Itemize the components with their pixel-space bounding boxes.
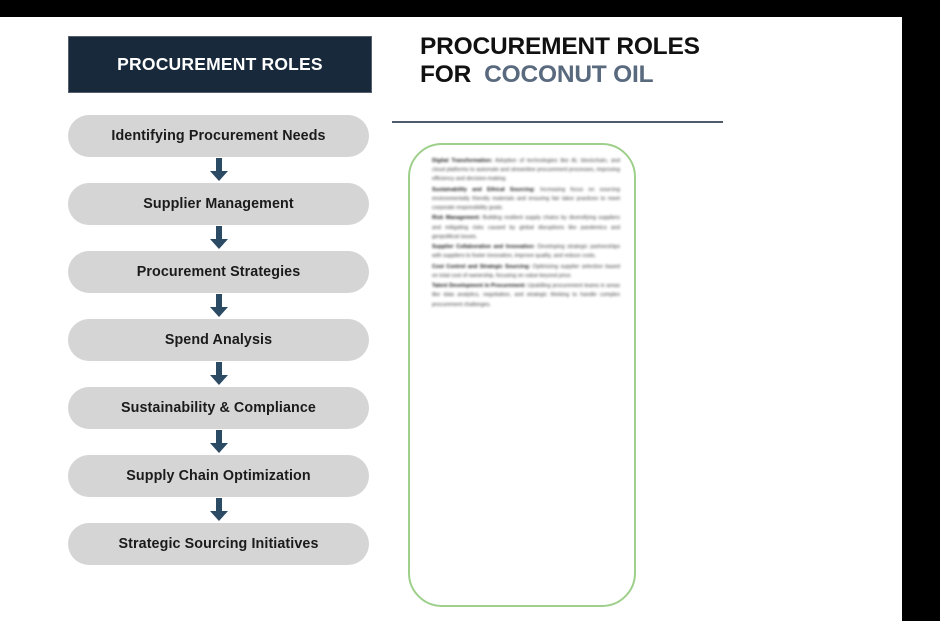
device-paragraph: Digital Transformation: Adoption of tech… <box>432 157 620 185</box>
flow-node[interactable]: Supply Chain Optimization <box>68 455 369 497</box>
device-paragraph-heading: Sustainability and Ethical Sourcing: <box>432 187 535 193</box>
detail-title: PROCUREMENT ROLES FORCOCONUT OIL <box>420 33 810 90</box>
device-paragraph: Sustainability and Ethical Sourcing: Inc… <box>432 186 620 214</box>
slide-root: PROCUREMENT ROLES Identifying Procuremen… <box>0 0 940 621</box>
procurement-roles-flowchart: Identifying Procurement NeedsSupplier Ma… <box>68 115 369 565</box>
flow-arrow-down-icon <box>68 429 369 455</box>
flow-node[interactable]: Strategic Sourcing Initiatives <box>68 523 369 565</box>
flow-node-label: Supply Chain Optimization <box>126 468 310 484</box>
title-divider-rule <box>392 121 723 123</box>
device-mockup-screen-content: Digital Transformation: Adoption of tech… <box>432 157 620 311</box>
flow-arrow-down-icon <box>68 293 369 319</box>
procurement-roles-header: PROCUREMENT ROLES <box>68 36 372 93</box>
device-paragraph-heading: Digital Transformation: <box>432 158 493 164</box>
flow-node[interactable]: Supplier Management <box>68 183 369 225</box>
device-paragraph: Risk Management: Building resilient supp… <box>432 214 620 242</box>
flow-arrow-down-icon <box>68 157 369 183</box>
flow-node-label: Procurement Strategies <box>137 264 301 280</box>
device-paragraph-heading: Risk Management: <box>432 215 480 221</box>
flow-node[interactable]: Procurement Strategies <box>68 251 369 293</box>
flow-node-label: Identifying Procurement Needs <box>111 128 325 144</box>
device-paragraph: Talent Development in Procurement: Upski… <box>432 282 620 310</box>
flow-arrow-down-icon <box>68 497 369 523</box>
flow-node-label: Supplier Management <box>143 196 293 212</box>
device-paragraph: Cost Control and Strategic Sourcing: Opt… <box>432 263 620 281</box>
device-paragraph: Supplier Collaboration and Innovation: D… <box>432 243 620 261</box>
flow-node-label: Spend Analysis <box>165 332 272 348</box>
device-mockup-frame: Digital Transformation: Adoption of tech… <box>408 143 636 607</box>
device-paragraph-heading: Cost Control and Strategic Sourcing: <box>432 264 530 270</box>
device-paragraph-heading: Supplier Collaboration and Innovation: <box>432 244 535 250</box>
flow-arrow-down-icon <box>68 225 369 251</box>
flow-node[interactable]: Spend Analysis <box>68 319 369 361</box>
flow-node-label: Strategic Sourcing Initiatives <box>118 536 318 552</box>
flow-arrow-down-icon <box>68 361 369 387</box>
device-paragraph-heading: Talent Development in Procurement: <box>432 283 526 289</box>
flow-node-label: Sustainability & Compliance <box>121 400 316 416</box>
flow-node[interactable]: Sustainability & Compliance <box>68 387 369 429</box>
detail-title-accent: COCONUT OIL <box>484 61 653 88</box>
flow-node[interactable]: Identifying Procurement Needs <box>68 115 369 157</box>
procurement-roles-header-label: PROCUREMENT ROLES <box>117 54 323 75</box>
slide-canvas: PROCUREMENT ROLES Identifying Procuremen… <box>0 17 902 621</box>
